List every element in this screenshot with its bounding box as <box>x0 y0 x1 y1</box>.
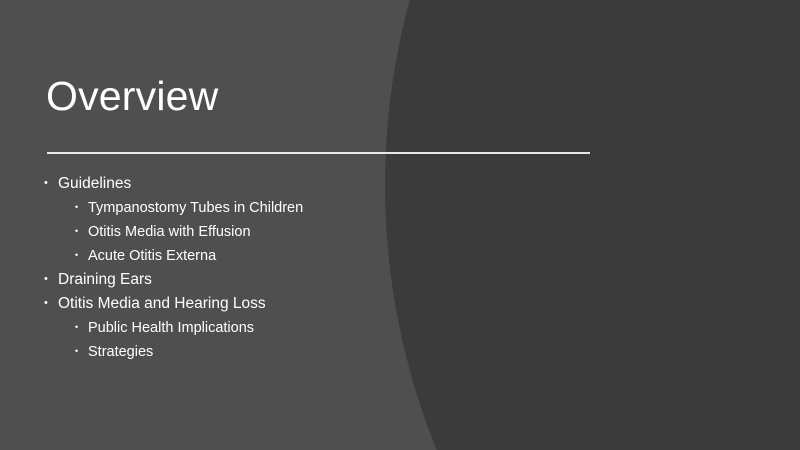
list-item-label: Public Health Implications <box>88 316 254 340</box>
list-item: •Otitis Media and Hearing Loss <box>44 292 604 316</box>
list-item-label: Strategies <box>88 340 153 364</box>
bullet-point-icon: • <box>75 340 88 356</box>
list-item: •Public Health Implications <box>44 316 604 340</box>
bullet-point-icon: • <box>75 316 88 332</box>
list-item-label: Tympanostomy Tubes in Children <box>88 196 303 220</box>
title-divider-rule <box>47 152 590 154</box>
bullet-point-icon: • <box>75 196 88 212</box>
list-item: •Acute Otitis Externa <box>44 244 604 268</box>
bullet-point-icon: • <box>44 268 58 285</box>
list-item-label: Otitis Media with Effusion <box>88 220 251 244</box>
list-item: •Strategies <box>44 340 604 364</box>
list-item-label: Draining Ears <box>58 268 152 292</box>
list-item: •Draining Ears <box>44 268 604 292</box>
bullet-list: •Guidelines•Tympanostomy Tubes in Childr… <box>44 172 604 364</box>
list-item: •Otitis Media with Effusion <box>44 220 604 244</box>
bullet-point-icon: • <box>75 220 88 236</box>
list-item-label: Acute Otitis Externa <box>88 244 216 268</box>
bullet-point-icon: • <box>44 292 58 309</box>
slide-content: Overview •Guidelines•Tympanostomy Tubes … <box>0 0 800 450</box>
bullet-point-icon: • <box>44 172 58 189</box>
list-item: •Tympanostomy Tubes in Children <box>44 196 604 220</box>
list-item-label: Guidelines <box>58 172 131 196</box>
slide-title: Overview <box>46 74 218 119</box>
bullet-point-icon: • <box>75 244 88 260</box>
presentation-slide: Overview •Guidelines•Tympanostomy Tubes … <box>0 0 800 450</box>
list-item-label: Otitis Media and Hearing Loss <box>58 292 266 316</box>
list-item: •Guidelines <box>44 172 604 196</box>
